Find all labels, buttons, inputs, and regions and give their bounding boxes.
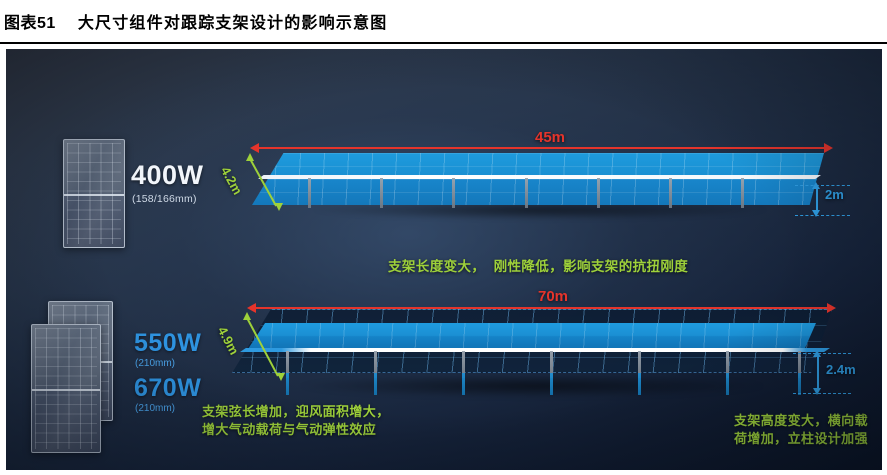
tracker-panel-gridlines [252, 153, 824, 205]
dimension-height-2p4m: 2.4m [826, 362, 856, 377]
tracker-post-lower [550, 373, 553, 395]
dimension-length-70m: 70m [538, 288, 568, 305]
arrow-head-right [827, 303, 836, 313]
figure-page: 图表51 大尺寸组件对跟踪支架设计的影响示意图 400W (158/166mm)… [0, 0, 887, 475]
length-arrow-45m [256, 147, 826, 149]
tracker-panel-highlight-gridlines [248, 323, 816, 349]
tracker-post [452, 178, 455, 208]
annotation-stiffness: 支架长度变大， 刚性降低，影响支架的抗扭刚度 [388, 255, 688, 275]
figure-canvas: 400W (158/166mm) 550W (210mm) 670W (210m… [6, 49, 882, 470]
module-midbar [64, 194, 124, 196]
label-cellsize-550w: (210mm) [135, 358, 175, 369]
tracker-post-lower [286, 373, 289, 395]
label-cellsize-400w: (158/166mm) [132, 193, 197, 205]
arrow-head-bottom [275, 203, 283, 211]
tracker-post [308, 178, 311, 208]
arrow-head-bottom [812, 210, 820, 217]
label-power-670w: 670W [134, 374, 201, 403]
module-midbar [32, 389, 100, 391]
height-extension-line-top [793, 353, 851, 354]
tracker-post-lower [462, 373, 465, 395]
figure-title: 大尺寸组件对跟踪支架设计的影响示意图 [78, 9, 388, 33]
length-arrow-70m [253, 307, 829, 309]
arrow-head-top [243, 312, 251, 320]
tracker-post-lower [798, 373, 801, 395]
annotation-column-design: 支架高度变大，横向载 荷增加，立柱设计加强 [721, 412, 881, 448]
annotation-column-design-line2: 荷增加，立柱设计加强 [721, 430, 881, 448]
dimension-height-2m: 2m [825, 187, 844, 202]
height-extension-line-bottom [793, 393, 851, 394]
label-cellsize-670w: (210mm) [135, 403, 175, 414]
tracker-post [380, 178, 383, 208]
pv-module-670w-graphic [31, 324, 101, 453]
arrow-head-left [250, 143, 259, 153]
arrow-head-bottom [813, 388, 821, 395]
tracker-post [597, 178, 600, 208]
height-extension-line-top [795, 185, 850, 186]
pv-module-400w-graphic [63, 139, 125, 248]
annotation-wind-load: 支架弦长增加，迎风面积增大， 增大气动载荷与气动弹性效应 [202, 403, 390, 439]
torque-tube [258, 175, 821, 179]
annotation-column-design-line1: 支架高度变大，横向载 [721, 412, 881, 430]
arrow-head-top [813, 350, 821, 357]
arrow-head-bottom [277, 373, 285, 381]
tracker-post [741, 178, 744, 208]
tracker-post [525, 178, 528, 208]
label-power-400w: 400W [131, 160, 204, 191]
arrow-head-top [246, 153, 254, 161]
annotation-wind-load-line1: 支架弦长增加，迎风面积增大， [202, 403, 390, 421]
tracker-post-lower [726, 373, 729, 395]
tracker-large-graphic [222, 297, 844, 409]
label-power-550w: 550W [134, 329, 201, 358]
height-arrow-2p4m [817, 355, 819, 391]
torque-tube [240, 348, 830, 352]
annotation-wind-load-line2: 增大气动载荷与气动弹性效应 [202, 421, 390, 439]
figure-caption: 图表51 大尺寸组件对跟踪支架设计的影响示意图 [0, 0, 887, 44]
tracker-small-graphic [238, 137, 838, 247]
dimension-length-45m: 45m [535, 129, 565, 146]
height-extension-line-bottom [795, 215, 850, 216]
figure-number: 图表51 [4, 9, 56, 33]
arrow-head-right [824, 143, 833, 153]
tracker-post [669, 178, 672, 208]
tracker-post-lower [374, 373, 377, 395]
tracker-ground-shadow [232, 373, 832, 399]
arrow-head-top [812, 182, 820, 189]
tracker-post-lower [638, 373, 641, 395]
